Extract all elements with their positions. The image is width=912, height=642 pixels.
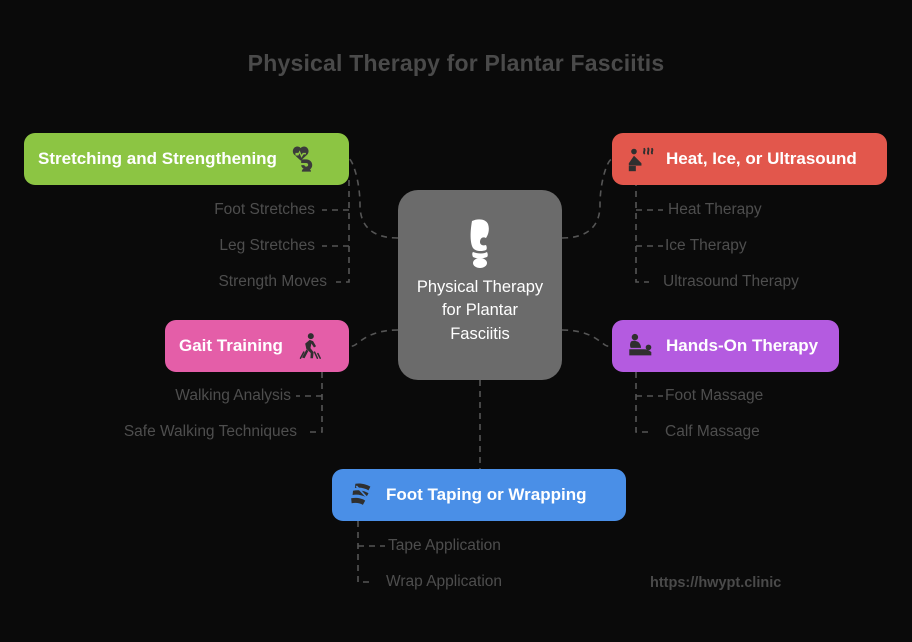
heart-bicep-icon bbox=[287, 144, 317, 174]
sauna-steam-icon bbox=[626, 144, 656, 174]
center-node[interactable]: Physical Therapy for Plantar Fasciitis bbox=[398, 190, 562, 380]
branch-node-heat[interactable]: Heat, Ice, or Ultrasound bbox=[612, 133, 887, 185]
walking-person-icon bbox=[293, 331, 323, 361]
foot-icon bbox=[460, 218, 500, 270]
center-node-label: Physical Therapy for Plantar Fasciitis bbox=[415, 276, 545, 346]
branch-node-stretching[interactable]: Stretching and Strengthening bbox=[24, 133, 349, 185]
leaf-hands-0: Foot Massage bbox=[665, 388, 763, 404]
watermark-url: https://hwypt.clinic bbox=[650, 575, 781, 591]
branch-label-stretching: Stretching and Strengthening bbox=[38, 149, 277, 169]
leaf-heat-2: Ultrasound Therapy bbox=[663, 274, 799, 290]
branch-label-gait: Gait Training bbox=[179, 336, 283, 356]
leaf-heat-0: Heat Therapy bbox=[668, 202, 762, 218]
leaf-stretching-0: Foot Stretches bbox=[115, 202, 315, 218]
page-title: Physical Therapy for Plantar Fasciitis bbox=[0, 50, 912, 77]
leaf-gait-0: Walking Analysis bbox=[95, 388, 291, 404]
leaf-stretching-1: Leg Stretches bbox=[115, 238, 315, 254]
branch-label-hands: Hands-On Therapy bbox=[666, 336, 818, 356]
branch-label-taping: Foot Taping or Wrapping bbox=[386, 485, 587, 505]
bandage-roll-icon bbox=[346, 480, 376, 510]
leaf-taping-1: Wrap Application bbox=[386, 574, 502, 590]
leaf-hands-1: Calf Massage bbox=[665, 424, 760, 440]
leaf-taping-0: Tape Application bbox=[388, 538, 501, 554]
branch-node-hands[interactable]: Hands-On Therapy bbox=[612, 320, 839, 372]
branch-label-heat: Heat, Ice, or Ultrasound bbox=[666, 149, 857, 169]
massage-icon bbox=[626, 331, 656, 361]
branch-node-taping[interactable]: Foot Taping or Wrapping bbox=[332, 469, 626, 521]
leaf-gait-1: Safe Walking Techniques bbox=[50, 424, 297, 440]
leaf-heat-1: Ice Therapy bbox=[665, 238, 747, 254]
branch-node-gait[interactable]: Gait Training bbox=[165, 320, 349, 372]
leaf-stretching-2: Strength Moves bbox=[115, 274, 327, 290]
